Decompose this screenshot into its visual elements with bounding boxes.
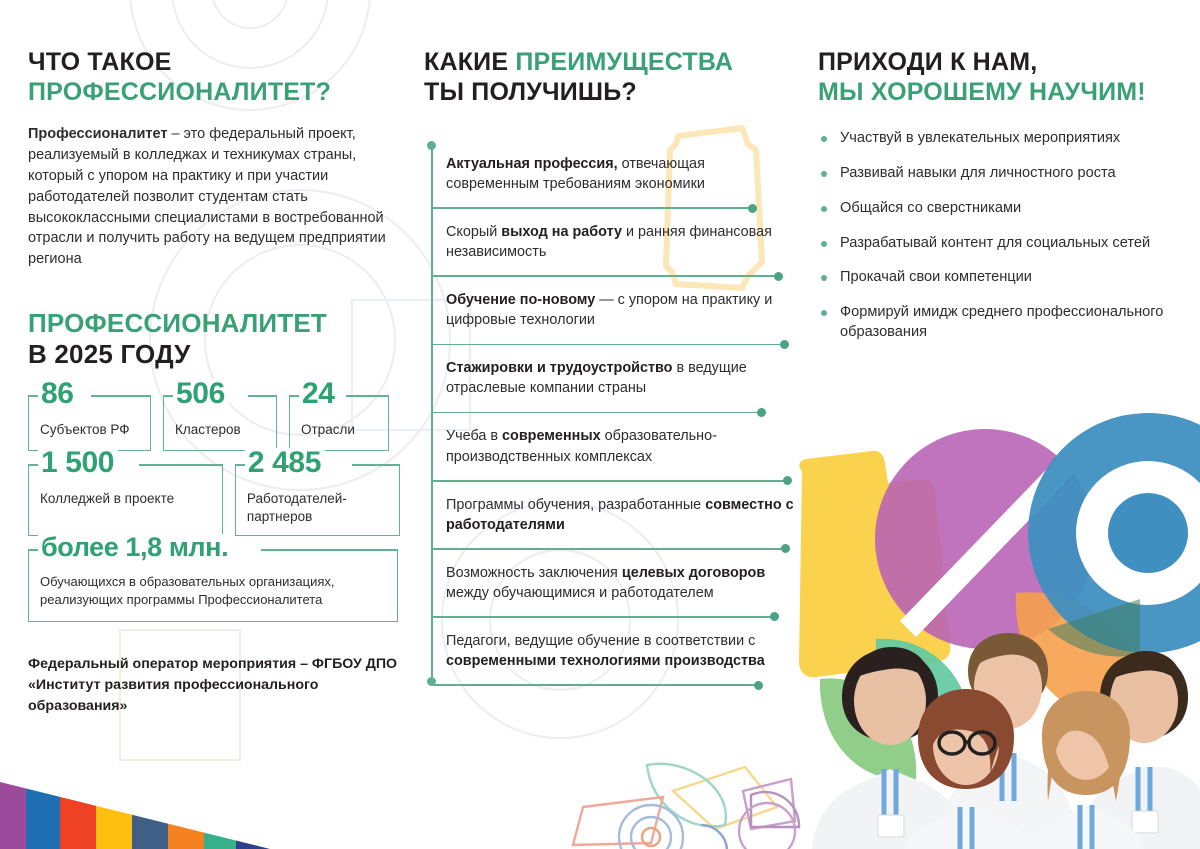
timeline-item-text: Обучение по-новому — с упором на практик…: [446, 277, 796, 343]
bullet-item: Развивай навыки для личностного роста: [818, 164, 1186, 184]
stat-card-industries: 24 Отрасли: [289, 395, 389, 451]
timeline-item-text: Скорый выход на работу и ранняя финансов…: [446, 209, 796, 275]
stat-value: 1 500: [38, 448, 118, 478]
federal-operator-note: Федеральный оператор мероприятия – ФГБОУ…: [28, 654, 400, 716]
timeline-item: Скорый выход на работу и ранняя финансов…: [446, 209, 796, 277]
left-heading-line1: ЧТО ТАКОЕ: [28, 48, 400, 78]
intro-paragraph: Профессионалитет – это федеральный проек…: [28, 124, 400, 270]
bullet-item: Формируй имидж среднего профессиональног…: [818, 303, 1186, 343]
stat-card-employers: 2 485 Работодателей-партнеров: [235, 464, 400, 536]
stat-label: Работодателей-партнеров: [247, 491, 347, 524]
timeline-item-text: Педагоги, ведущие обучение в соответстви…: [446, 618, 796, 684]
bullet-item: Участвуй в увлекательных мероприятиях: [818, 129, 1186, 149]
timeline-item: Возможность заключения целевых договоров…: [446, 550, 796, 618]
middle-column: КАКИЕ ПРЕИМУЩЕСТВА ТЫ ПОЛУЧИШЬ? Актуальн…: [424, 0, 796, 686]
middle-heading-line2: ТЫ ПОЛУЧИШЬ?: [424, 78, 796, 108]
timeline-start-dot: [427, 141, 436, 150]
timeline-item-text: Учеба в современных образовательно-произ…: [446, 413, 796, 479]
stat-card-clusters: 506 Кластеров: [163, 395, 277, 451]
timeline-item-text: Возможность заключения целевых договоров…: [446, 550, 796, 616]
timeline-item-text: Программы обучения, разработанные совмес…: [446, 482, 796, 548]
left-heading: ЧТО ТАКОЕ ПРОФЕССИОНАЛИТЕТ?: [28, 48, 400, 107]
intro-rest: – это федеральный проект, реализуемый в …: [28, 126, 386, 267]
stat-label: Субъектов РФ: [40, 422, 130, 437]
middle-heading: КАКИЕ ПРЕИМУЩЕСТВА ТЫ ПОЛУЧИШЬ?: [424, 48, 796, 107]
right-heading: ПРИХОДИ К НАМ, МЫ ХОРОШЕМУ НАУЧИМ!: [818, 48, 1186, 107]
stats-row-3: более 1,8 млн. Обучающихся в образовател…: [28, 549, 400, 622]
bullet-item: Разрабатывай контент для социальных сете…: [818, 234, 1186, 254]
bullet-item: Общайся со сверстниками: [818, 199, 1186, 219]
advantages-timeline: Актуальная профессия, отвечающая совреме…: [424, 141, 796, 686]
infographic-page: ЧТО ТАКОЕ ПРОФЕССИОНАЛИТЕТ? Профессионал…: [0, 0, 1200, 849]
right-heading-line1: ПРИХОДИ К НАМ,: [818, 48, 1186, 78]
timeline-item-text: Актуальная профессия, отвечающая совреме…: [446, 141, 796, 207]
middle-heading-part1: КАКИЕ: [424, 48, 515, 76]
middle-heading-line1: КАКИЕ ПРЕИМУЩЕСТВА: [424, 48, 796, 78]
left-heading-line2: ПРОФЕССИОНАЛИТЕТ?: [28, 78, 400, 108]
left-column: ЧТО ТАКОЕ ПРОФЕССИОНАЛИТЕТ? Профессионал…: [28, 0, 400, 717]
stat-value: 2 485: [245, 448, 325, 478]
stats-row-1: 86 Субъектов РФ 506 Кластеров 24 Отрасли: [28, 395, 400, 451]
timeline-item-text: Стажировки и трудоустройство в ведущие о…: [446, 345, 796, 411]
stat-label: Отрасли: [301, 422, 355, 437]
timeline-item: Программы обучения, разработанные совмес…: [446, 482, 796, 550]
stat-value: 86: [38, 379, 78, 409]
stats-heading: ПРОФЕССИОНАЛИТЕТ В 2025 ГОДУ: [28, 308, 400, 369]
stat-label: Обучающихся в образовательных организаци…: [40, 574, 334, 607]
timeline-item: Учеба в современных образовательно-произ…: [446, 413, 796, 481]
stat-value: более 1,8 млн.: [38, 534, 232, 561]
stats-heading-line1: ПРОФЕССИОНАЛИТЕТ: [28, 308, 400, 339]
right-heading-line2: МЫ ХОРОШЕМУ НАУЧИМ!: [818, 78, 1186, 108]
activities-bullet-list: Участвуй в увлекательных мероприятияхРаз…: [818, 129, 1186, 343]
stat-value: 506: [173, 379, 229, 409]
timeline-item: Стажировки и трудоустройство в ведущие о…: [446, 345, 796, 413]
stat-label: Кластеров: [175, 422, 241, 437]
timeline-item: Педагоги, ведущие обучение в соответстви…: [446, 618, 796, 686]
stat-card-subjects: 86 Субъектов РФ: [28, 395, 151, 451]
stat-card-colleges: 1 500 Колледжей в проекте: [28, 464, 223, 536]
right-column: ПРИХОДИ К НАМ, МЫ ХОРОШЕМУ НАУЧИМ! Участ…: [818, 0, 1186, 359]
timeline-spine: [431, 145, 433, 682]
stat-label: Колледжей в проекте: [40, 491, 174, 506]
timeline-item: Актуальная профессия, отвечающая совреме…: [446, 141, 796, 209]
intro-bold-term: Профессионалитет: [28, 126, 167, 142]
stat-value: 24: [299, 379, 339, 409]
bullet-item: Прокачай свои компетенции: [818, 268, 1186, 288]
stats-heading-line2: В 2025 ГОДУ: [28, 339, 400, 370]
stat-card-students: более 1,8 млн. Обучающихся в образовател…: [28, 549, 398, 622]
middle-heading-part2: ПРЕИМУЩЕСТВА: [515, 48, 733, 76]
timeline-item: Обучение по-новому — с упором на практик…: [446, 277, 796, 345]
stats-row-2: 1 500 Колледжей в проекте 2 485 Работода…: [28, 464, 400, 536]
timeline-separator: [431, 684, 759, 686]
timeline-items-container: Актуальная профессия, отвечающая совреме…: [446, 141, 796, 686]
statistics-group: 86 Субъектов РФ 506 Кластеров 24 Отрасли…: [28, 395, 400, 622]
